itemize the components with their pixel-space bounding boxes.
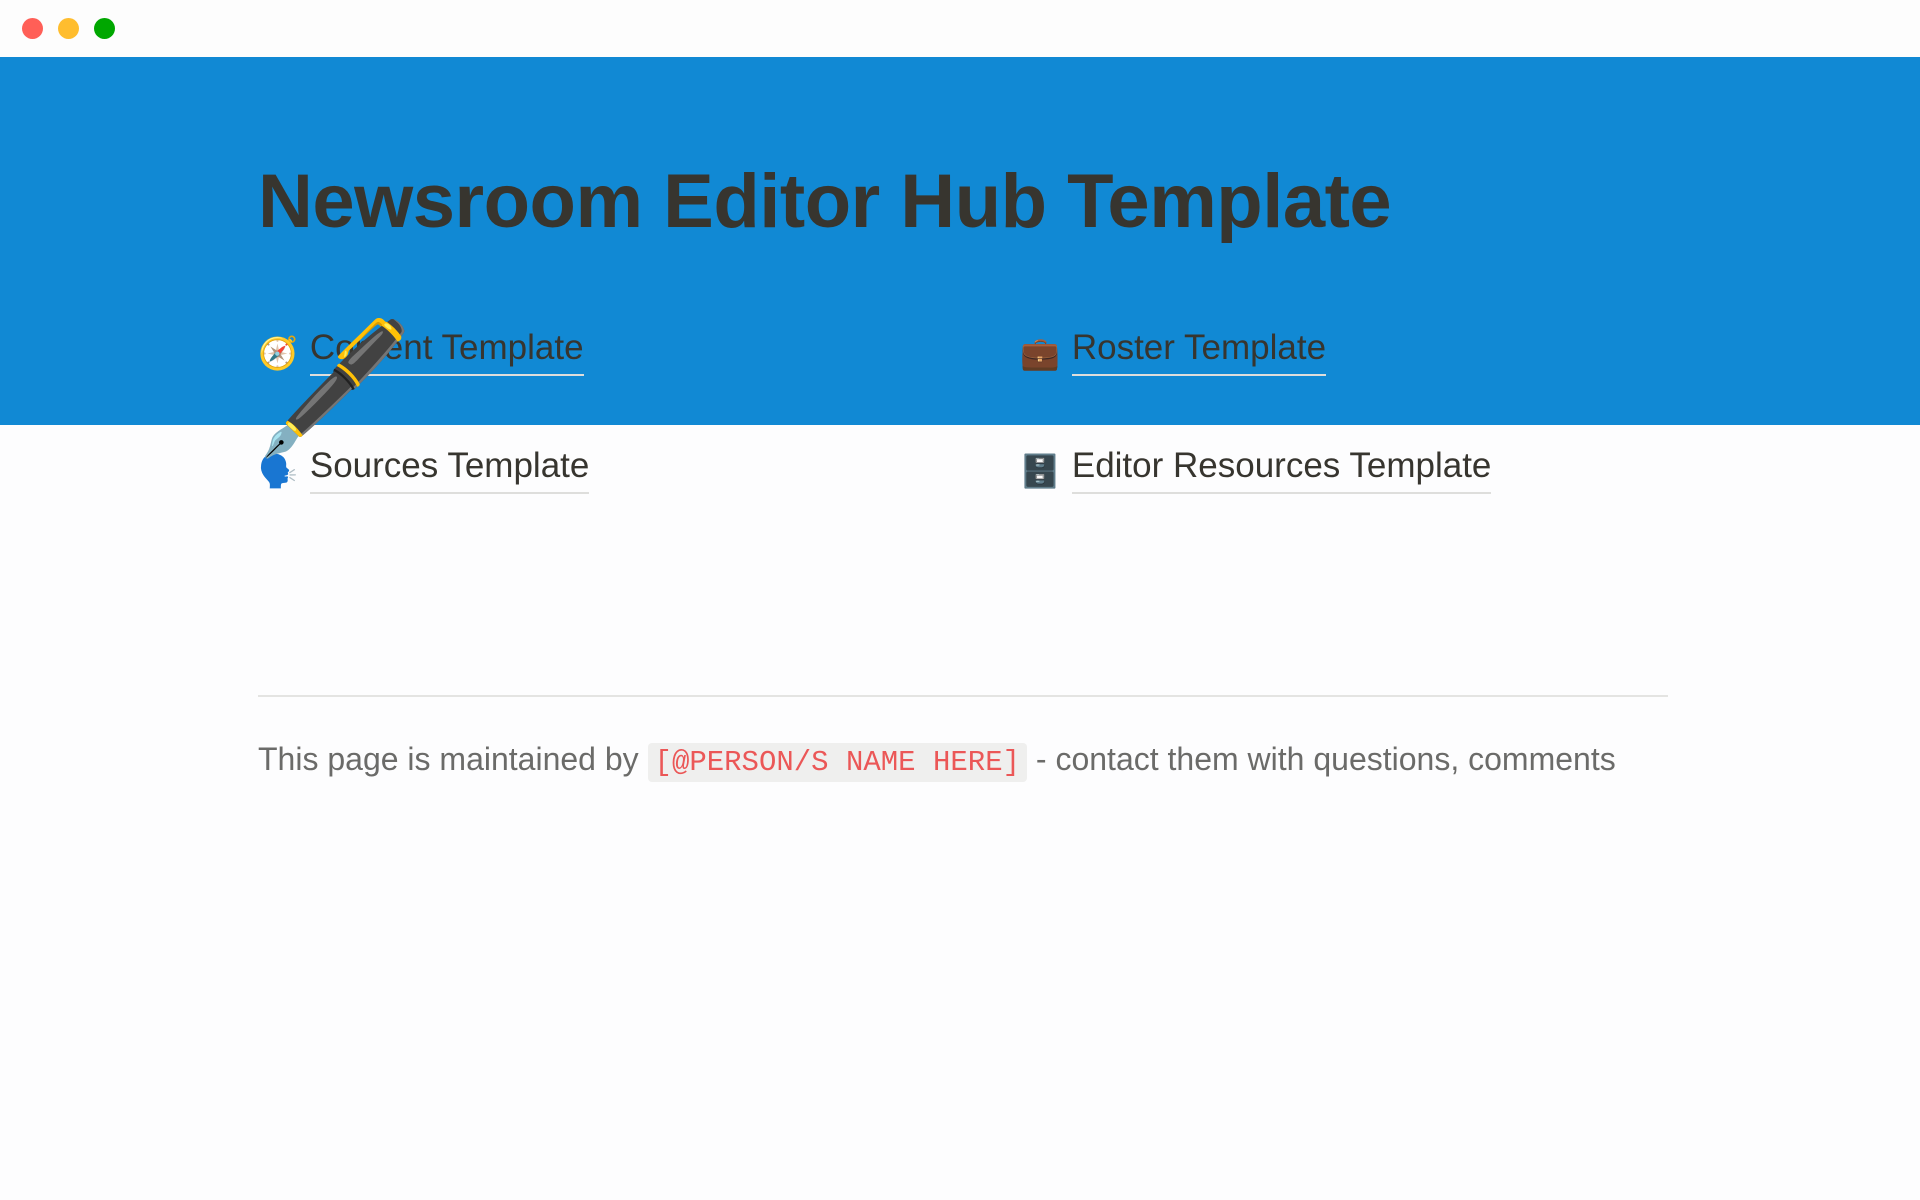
link-label: Roster Template (1072, 327, 1326, 376)
close-window-button[interactable] (22, 18, 43, 39)
link-cell-editor-resources-template: 🗄️ Editor Resources Template (1020, 443, 1668, 561)
footer-text-after: - contact them with questions, comments (1036, 741, 1616, 777)
file-cabinet-icon: 🗄️ (1020, 455, 1060, 487)
traffic-light-group (22, 18, 115, 39)
briefcase-icon: 💼 (1020, 337, 1060, 369)
maximize-window-button[interactable] (94, 18, 115, 39)
footer-maintainer-note: This page is maintained by [@PERSON/S NA… (258, 735, 1668, 785)
minimize-window-button[interactable] (58, 18, 79, 39)
template-link-grid: 🧭 Content Template 💼 Roster Template 🗣️ … (258, 325, 1668, 561)
page-title: Newsroom Editor Hub Template (258, 160, 1391, 244)
window-titlebar (0, 0, 1920, 57)
link-cell-roster-template: 💼 Roster Template (1020, 325, 1668, 443)
footer-divider (258, 695, 1668, 697)
app-window: 🖋️ Newsroom Editor Hub Template 🧭 Conten… (0, 0, 1920, 1200)
fountain-pen-icon[interactable]: 🖋️ (255, 325, 414, 453)
link-roster-template[interactable]: 💼 Roster Template (1020, 325, 1326, 376)
link-editor-resources-template[interactable]: 🗄️ Editor Resources Template (1020, 443, 1491, 494)
link-cell-sources-template: 🗣️ Sources Template (258, 443, 1020, 561)
footer-person-placeholder-code: [@PERSON/S NAME HERE] (648, 743, 1027, 782)
footer-text-before: This page is maintained by (258, 741, 639, 777)
link-label: Editor Resources Template (1072, 445, 1492, 494)
